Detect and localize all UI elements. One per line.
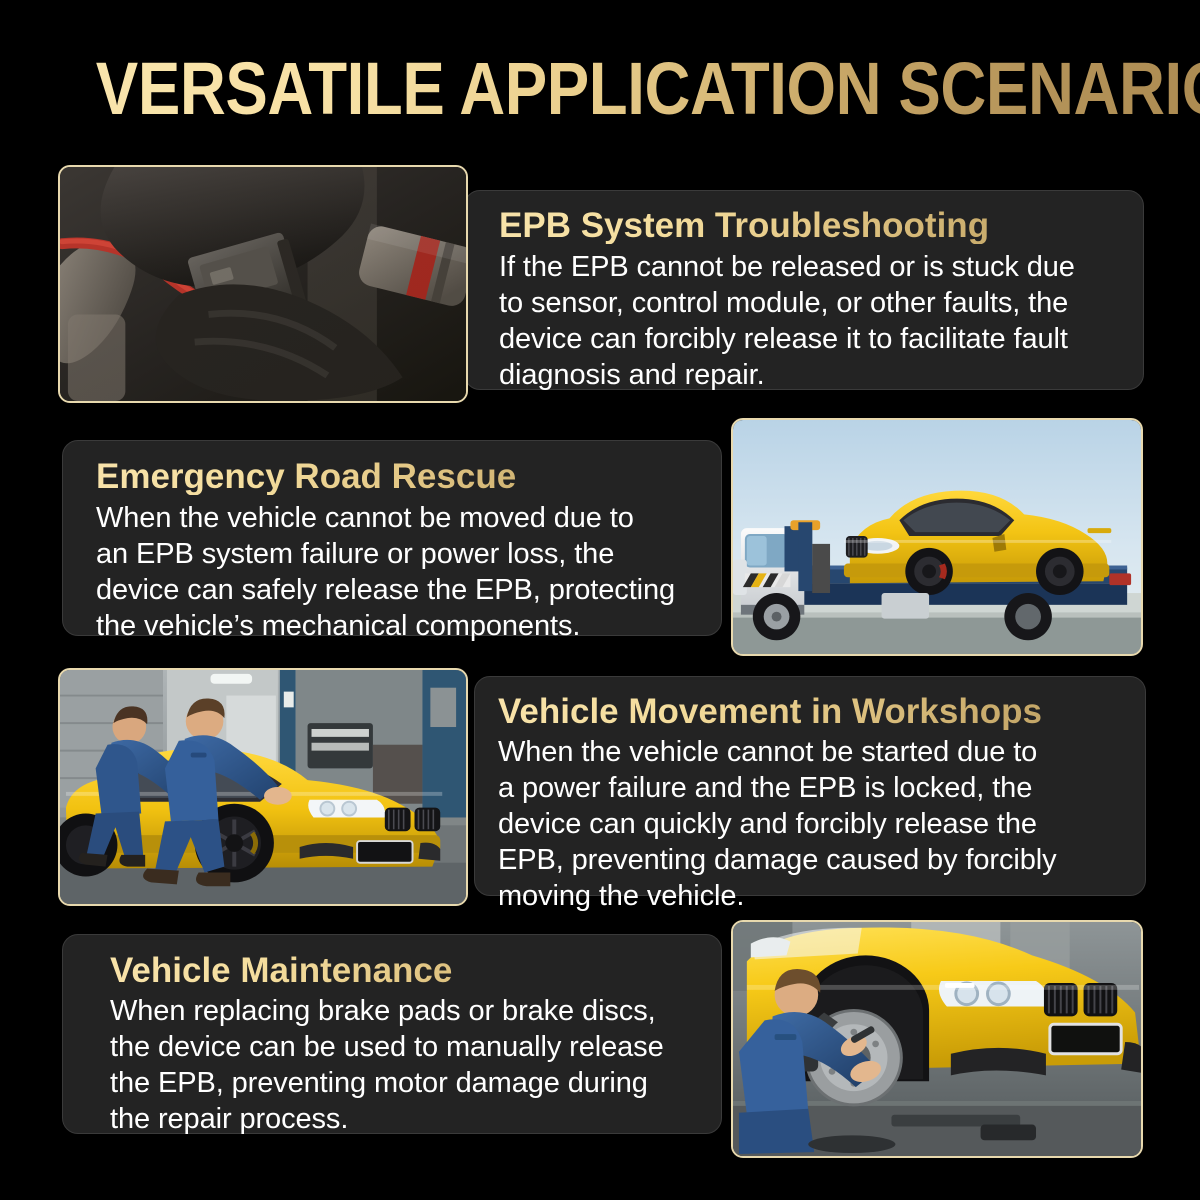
card-body-line: EPB, preventing damage caused by forcibl…: [498, 843, 1133, 879]
card-body-line: When the vehicle cannot be started due t…: [498, 735, 1133, 771]
card-body-line: the device can be used to manually relea…: [110, 1030, 711, 1066]
epb-connector-illustration: [60, 167, 466, 401]
card-heading: EPB System Troubleshooting: [499, 207, 1143, 244]
card-body: When the vehicle cannot be moved due to …: [96, 501, 711, 645]
card-heading: Vehicle Movement in Workshops: [498, 693, 1145, 730]
photo-tow-truck: [731, 418, 1143, 656]
card-heading: Vehicle Maintenance: [110, 952, 721, 989]
card-body-line: When replacing brake pads or brake discs…: [110, 994, 711, 1030]
application-scenarios-page: VERSATILE APPLICATION SCENARIOS: [0, 0, 1200, 1200]
card-body-line: a power failure and the EPB is locked, t…: [498, 771, 1133, 807]
card-heading: Emergency Road Rescue: [96, 458, 721, 495]
photo-mechanics-pushing-car: [58, 668, 468, 906]
card-body: When replacing brake pads or brake discs…: [110, 994, 711, 1138]
tow-truck-illustration: [733, 420, 1141, 654]
card-body-line: the EPB, preventing motor damage during: [110, 1066, 711, 1102]
card-body: When the vehicle cannot be started due t…: [498, 735, 1133, 915]
card-body-line: the vehicle’s mechanical components.: [96, 609, 711, 645]
card-emergency-road-rescue: Emergency Road Rescue When the vehicle c…: [62, 440, 722, 636]
card-body-line: device can quickly and forcibly release …: [498, 807, 1133, 843]
photo-epb-connector: [58, 165, 468, 403]
card-vehicle-movement-in-workshops: Vehicle Movement in Workshops When the v…: [474, 676, 1146, 896]
card-body-line: device can forcibly release it to facili…: [499, 322, 1127, 358]
card-body-line: the repair process.: [110, 1102, 711, 1138]
card-body-line: If the EPB cannot be released or is stuc…: [499, 250, 1127, 286]
page-title: VERSATILE APPLICATION SCENARIOS: [96, 52, 1200, 126]
card-body: If the EPB cannot be released or is stuc…: [499, 250, 1127, 394]
card-body-line: When the vehicle cannot be moved due to: [96, 501, 711, 537]
brake-service-illustration: [733, 922, 1141, 1156]
card-body-line: to sensor, control module, or other faul…: [499, 286, 1127, 322]
card-body-line: device can safely release the EPB, prote…: [96, 573, 711, 609]
card-epb-system-troubleshooting: EPB System Troubleshooting If the EPB ca…: [464, 190, 1144, 390]
mechanics-pushing-illustration: [60, 670, 466, 904]
card-body-line: moving the vehicle.: [498, 879, 1133, 915]
page-title-wrap: VERSATILE APPLICATION SCENARIOS: [0, 52, 1200, 126]
photo-brake-service: [731, 920, 1143, 1158]
card-body-line: an EPB system failure or power loss, the: [96, 537, 711, 573]
card-body-line: diagnosis and repair.: [499, 358, 1127, 394]
card-vehicle-maintenance: Vehicle Maintenance When replacing brake…: [62, 934, 722, 1134]
